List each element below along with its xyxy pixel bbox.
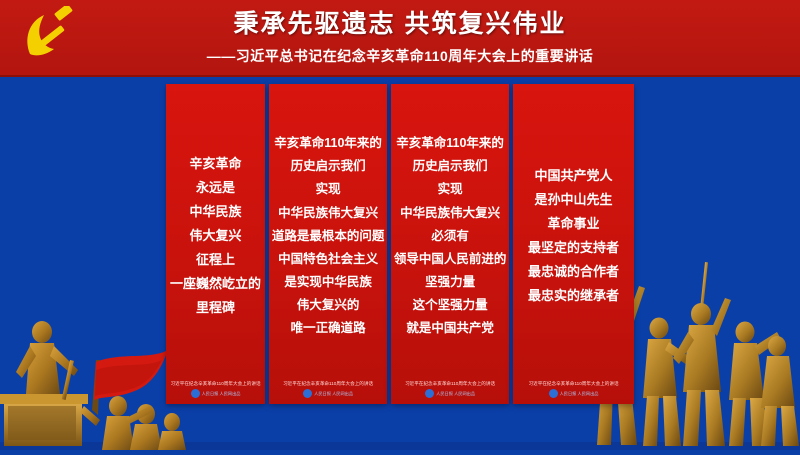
panel-1-lines: 辛亥革命 永远是 中华民族 伟大复兴 征程上 一座巍然屹立的 里程碑: [166, 92, 265, 381]
poster-panel-1[interactable]: 辛亥革命 永远是 中华民族 伟大复兴 征程上 一座巍然屹立的 里程碑 习近平在纪…: [166, 84, 265, 404]
panel-2-line: 辛亥革命110年来的: [274, 132, 382, 155]
party-badge-icon: [425, 389, 434, 398]
panel-3-stamp: 人民日报 人民网出品: [391, 389, 509, 404]
panel-2-lines: 辛亥革命110年来的 历史启示我们 实现 中华民族伟大复兴 道路是最根本的问题 …: [269, 92, 387, 381]
panel-3-line: 辛亥革命110年来的: [396, 132, 504, 155]
poster-panel-3[interactable]: 辛亥革命110年来的 历史启示我们 实现 中华民族伟大复兴 必须有 领导中国人民…: [391, 84, 509, 404]
panel-2-line: 唯一正确道路: [291, 317, 366, 340]
poster-panels: 辛亥革命 永远是 中华民族 伟大复兴 征程上 一座巍然屹立的 里程碑 习近平在纪…: [166, 84, 634, 404]
panel-2-line: 道路是最根本的问题: [272, 225, 385, 248]
panel-2-footnote: 习近平在纪念辛亥革命110周年大会上的讲话: [269, 381, 387, 389]
panel-1-line: 伟大复兴: [190, 224, 242, 248]
panel-2-line: 中华民族伟大复兴: [278, 202, 378, 225]
panel-3-line: 领导中国人民前进的: [394, 248, 507, 271]
panel-3-line: 就是中国共产党: [406, 317, 494, 340]
party-badge-icon: [303, 389, 312, 398]
panel-1-line: 里程碑: [196, 296, 235, 320]
panel-2-stamp: 人民日报 人民网出品: [269, 389, 387, 404]
panel-3-line: 实现: [438, 178, 463, 201]
panel-2-line: 中国特色社会主义: [278, 248, 378, 271]
panel-2-line: 是实现中华民族: [284, 271, 372, 294]
panel-1-stamp: 人民日报 人民网出品: [166, 389, 265, 404]
panel-4-line: 是孙中山先生: [535, 188, 613, 212]
panel-3-line: 必须有: [431, 225, 469, 248]
panel-4-stamp: 人民日报 人民网出品: [513, 389, 634, 404]
panel-3-stamp-text: 人民日报 人民网出品: [436, 391, 475, 396]
panel-3-lines: 辛亥革命110年来的 历史启示我们 实现 中华民族伟大复兴 必须有 领导中国人民…: [391, 92, 509, 381]
panel-4-stamp-text: 人民日报 人民网出品: [560, 391, 599, 396]
panel-4-line: 最忠实的继承者: [528, 284, 619, 308]
panel-3-footnote: 习近平在纪念辛亥革命110周年大会上的讲话: [391, 381, 509, 389]
panel-1-line: 辛亥革命: [190, 152, 242, 176]
party-badge-icon: [191, 389, 200, 398]
panel-2-line: 伟大复兴的: [297, 294, 360, 317]
poster-panel-2[interactable]: 辛亥革命110年来的 历史启示我们 实现 中华民族伟大复兴 道路是最根本的问题 …: [269, 84, 387, 404]
panel-4-line: 中国共产党人: [535, 164, 613, 188]
poster-panel-4[interactable]: 中国共产党人 是孙中山先生 革命事业 最坚定的支持者 最忠诚的合作者 最忠实的继…: [513, 84, 634, 404]
panel-1-line: 征程上: [196, 248, 235, 272]
panel-3-line: 坚强力量: [425, 271, 475, 294]
panel-4-line: 革命事业: [548, 212, 600, 236]
panel-1-line: 中华民族: [190, 200, 242, 224]
header-title-block: 秉承先驱遗志 共筑复兴伟业 ——习近平总书记在纪念辛亥革命110周年大会上的重要…: [0, 0, 800, 75]
panel-3-line: 历史启示我们: [413, 155, 488, 178]
panel-2-line: 实现: [316, 178, 341, 201]
party-badge-icon: [549, 389, 558, 398]
panel-4-line: 最坚定的支持者: [528, 236, 619, 260]
page-header: 秉承先驱遗志 共筑复兴伟业 ——习近平总书记在纪念辛亥革命110周年大会上的重要…: [0, 0, 800, 77]
panel-1-line: 永远是: [196, 176, 235, 200]
panel-4-footnote: 习近平在纪念辛亥革命110周年大会上的讲话: [513, 381, 634, 389]
page-subtitle: ——习近平总书记在纪念辛亥革命110周年大会上的重要讲话: [207, 46, 594, 66]
panel-2-line: 历史启示我们: [291, 155, 366, 178]
panel-4-lines: 中国共产党人 是孙中山先生 革命事业 最坚定的支持者 最忠诚的合作者 最忠实的继…: [513, 92, 634, 381]
panel-2-stamp-text: 人民日报 人民网出品: [314, 391, 353, 396]
panel-3-line: 这个坚强力量: [413, 294, 488, 317]
panel-3-line: 中华民族伟大复兴: [400, 202, 500, 225]
page-title: 秉承先驱遗志 共筑复兴伟业: [234, 11, 567, 39]
panel-1-stamp-text: 人民日报 人民网出品: [202, 391, 241, 396]
panel-1-line: 一座巍然屹立的: [170, 272, 261, 296]
panel-4-line: 最忠诚的合作者: [528, 260, 619, 284]
panel-1-footnote: 习近平在纪念辛亥革命110周年大会上的讲话: [166, 381, 265, 389]
